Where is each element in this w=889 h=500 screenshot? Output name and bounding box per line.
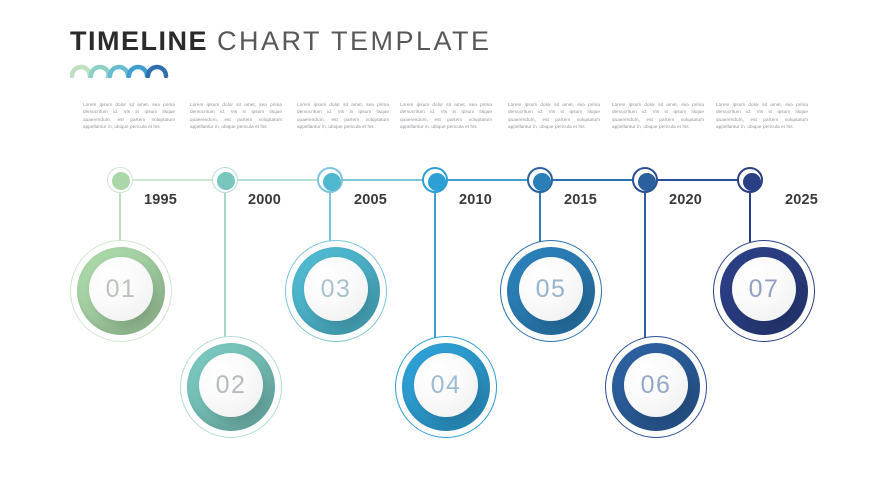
description-3: Lorem ipsum dolor sit amet, sea prima de…: [297, 101, 389, 131]
marker-dot-2005: [323, 173, 341, 191]
node-number-05: 05: [536, 275, 567, 304]
year-label-2020: 2020: [669, 192, 702, 208]
step-node-02[interactable]: 02: [180, 336, 282, 438]
description-7: Lorem ipsum dolor sit amet, sea prima de…: [716, 101, 808, 131]
page-title: TIMELINECHART TEMPLATE: [70, 28, 492, 55]
title-bold-part: TIMELINE: [70, 26, 208, 56]
marker-dot-2025: [743, 173, 761, 191]
timeline-marker-2000[interactable]: [212, 167, 238, 193]
year-label-2015: 2015: [564, 192, 597, 208]
timeline-marker-1995[interactable]: [107, 167, 133, 193]
marker-dot-2015: [533, 173, 551, 191]
connector-line-7: [749, 192, 751, 242]
step-node-07[interactable]: 07: [713, 240, 815, 342]
step-node-03[interactable]: 03: [285, 240, 387, 342]
node-number-01: 01: [106, 275, 137, 304]
wave-decoration-icon: [70, 58, 174, 78]
step-node-05[interactable]: 05: [500, 240, 602, 342]
node-number-02: 02: [216, 371, 247, 400]
node-inner-02: 02: [199, 353, 263, 417]
title-light-part: CHART TEMPLATE: [217, 26, 492, 56]
description-2: Lorem ipsum dolor sit amet, sea prima de…: [190, 101, 282, 131]
node-number-04: 04: [431, 371, 462, 400]
node-inner-06: 06: [624, 353, 688, 417]
timeline-marker-2015[interactable]: [527, 167, 553, 193]
step-node-06[interactable]: 06: [605, 336, 707, 438]
node-number-07: 07: [749, 275, 780, 304]
timeline-marker-2010[interactable]: [422, 167, 448, 193]
year-label-2025: 2025: [785, 192, 818, 208]
connector-line-6: [644, 192, 646, 347]
timeline-marker-2020[interactable]: [632, 167, 658, 193]
description-6: Lorem ipsum dolor sit amet, sea prima de…: [612, 101, 704, 131]
description-1: Lorem ipsum dolor sit amet, sea prima de…: [83, 101, 175, 131]
year-label-2005: 2005: [354, 192, 387, 208]
connector-line-4: [434, 192, 436, 347]
node-inner-07: 07: [732, 257, 796, 321]
marker-dot-2010: [428, 173, 446, 191]
year-label-2000: 2000: [248, 192, 281, 208]
header: TIMELINECHART TEMPLATE: [70, 28, 492, 55]
connector-line-2: [224, 192, 226, 347]
marker-dot-2000: [217, 172, 235, 190]
node-inner-04: 04: [414, 353, 478, 417]
description-5: Lorem ipsum dolor sit amet, sea prima de…: [508, 101, 600, 131]
connector-line-1: [119, 192, 121, 242]
step-node-01[interactable]: 01: [70, 240, 172, 342]
node-inner-03: 03: [304, 257, 368, 321]
timeline-marker-2005[interactable]: [317, 167, 343, 193]
node-inner-05: 05: [519, 257, 583, 321]
connector-line-5: [539, 192, 541, 242]
node-inner-01: 01: [89, 257, 153, 321]
description-4: Lorem ipsum dolor sit amet, sea prima de…: [400, 101, 492, 131]
marker-dot-2020: [638, 173, 656, 191]
timeline-chart-canvas: TIMELINECHART TEMPLATE Lorem ipsum dolor…: [0, 0, 889, 500]
year-label-2010: 2010: [459, 192, 492, 208]
node-number-06: 06: [641, 371, 672, 400]
node-number-03: 03: [321, 275, 352, 304]
step-node-04[interactable]: 04: [395, 336, 497, 438]
timeline-marker-2025[interactable]: [737, 167, 763, 193]
year-label-1995: 1995: [144, 192, 177, 208]
marker-dot-1995: [112, 172, 130, 190]
connector-line-3: [329, 192, 331, 242]
